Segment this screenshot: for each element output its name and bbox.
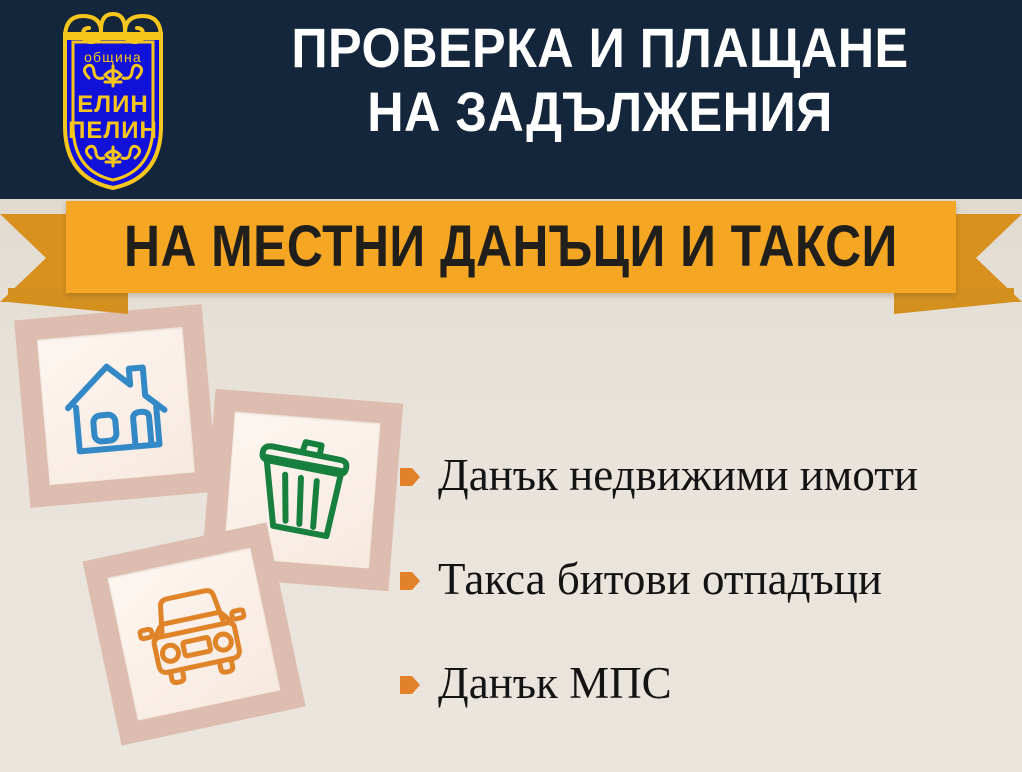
list-item-label: Данък недвижими имоти (438, 452, 918, 499)
stamp-scallop-dot (283, 651, 306, 674)
stamp-scallop-dot (314, 574, 334, 594)
stamp-scallop-dot (107, 708, 130, 731)
stamp-scallop-dot (181, 481, 202, 502)
stamp-scallop-dot (309, 389, 329, 409)
stamp-scallop-dot (272, 386, 292, 406)
stamp-scallop-dot (95, 652, 118, 675)
stamp-scallop-dot (118, 542, 141, 565)
stamp-scallop-dot (291, 387, 311, 407)
stamp-scallop-dot (347, 392, 367, 412)
coat-of-arms: община ЕЛИН ПЕЛИН (43, 8, 183, 192)
stamp-scallop-dot (103, 689, 126, 712)
vehicle-stamp (83, 523, 306, 746)
header-bar: община ЕЛИН ПЕЛИН (0, 0, 1022, 199)
stamp-scallop-dot (155, 535, 178, 558)
stamp-scallop-dot (175, 718, 198, 741)
stamp-scallop-dot (378, 554, 398, 574)
stamp-scallop-dot (279, 632, 302, 655)
stamp-scallop-dot (10, 357, 31, 378)
poster-root: община ЕЛИН ПЕЛИН (0, 0, 1022, 772)
stamp-scallop-dot (83, 596, 106, 619)
stamp-scallop-dot (13, 395, 34, 416)
stamp-scallop-dot (249, 703, 272, 726)
ribbon-label: НА МЕСТНИ ДАНЪЦИ И ТАКСИ (124, 218, 898, 276)
stamp-scallop-dot (198, 502, 218, 522)
stamp-scallop-dot (100, 546, 123, 569)
list-item[interactable]: Данък МПС (400, 632, 1012, 736)
stamp-scallop-dot (79, 578, 102, 601)
stamp-scallop-dot (18, 452, 39, 473)
svg-text:ЕЛИН: ЕЛИН (77, 91, 148, 118)
stamp-scallop-dot (253, 384, 273, 404)
svg-text:ПЕЛИН: ПЕЛИН (68, 117, 158, 144)
stamp-scallop-dot (87, 615, 110, 638)
stamp-scallop-dot (295, 572, 315, 592)
stamp-scallop-dot (234, 383, 254, 403)
subtitle-ribbon: НА МЕСТНИ ДАНЪЦИ И ТАКСИ (0, 198, 1022, 303)
stamp-face (107, 547, 280, 720)
stamp-scallop-dot (328, 390, 348, 410)
list-item[interactable]: Такса битови отпадъци (400, 528, 1012, 632)
stamp-scallop-dot (12, 376, 33, 397)
stamp-scallop-dot (192, 322, 213, 343)
stamp-scallop-dot (127, 301, 148, 322)
stamp-scallop-dot (287, 670, 310, 693)
stamp-scallop-dot (162, 483, 183, 504)
stamp-scallop-dot (275, 614, 298, 637)
stamp-scallop-dot (381, 516, 401, 536)
stamp-scallop-dot (67, 491, 88, 512)
stamp-scallop-dot (99, 671, 122, 694)
stamp-scallop-dot (380, 535, 400, 555)
tax-types-list: Данък недвижими имоти Такса битови отпад… (400, 424, 1012, 736)
stamp-scallop-dot (17, 433, 38, 454)
stamp-scallop-dot (194, 714, 217, 737)
car-icon (130, 576, 258, 693)
stamp-scallop-dot (15, 414, 36, 435)
stamp-scallop-dot (156, 722, 179, 745)
stamp-scallop-dot (20, 471, 41, 492)
real-estate-stamp (14, 304, 218, 508)
coat-of-arms-icon: община ЕЛИН ПЕЛИН (43, 8, 183, 192)
stamp-scallop-dot (7, 320, 28, 341)
arrow-bullet-icon (400, 570, 420, 592)
ribbon-banner: НА МЕСТНИ ДАНЪЦИ И ТАКСИ (66, 201, 956, 293)
stamp-scallop-dot (105, 488, 126, 509)
house-icon (58, 351, 174, 460)
stamp-scallop-dot (48, 493, 69, 514)
stamp-scallop-dot (174, 531, 197, 554)
stamp-scallop-dot (143, 485, 164, 506)
stamp-scallop-dot (111, 726, 134, 749)
stamp-scallop-dot (86, 490, 107, 511)
stamp-scallop-dot (193, 341, 214, 362)
stamp-scallop-dot (124, 486, 145, 507)
stamp-scallop-dot (377, 573, 397, 593)
stamp-scallop-dot (32, 310, 53, 331)
stamp-scallop-dot (22, 490, 43, 511)
stamp-scallop-dot (137, 538, 160, 561)
stamp-scallop-dot (91, 634, 114, 657)
stamp-scallop-dot (8, 338, 29, 359)
page-title: ПРОВЕРКА И ПЛАЩАНЕ НА ЗАДЪЛЖЕНИЯ (231, 16, 969, 144)
list-item-label: Данък МПС (438, 660, 672, 707)
stamp-scallop-dot (271, 595, 294, 618)
stamp-scallop-dot (212, 711, 235, 734)
stamp-scallop-dot (333, 575, 353, 595)
stamp-scallop-dot (268, 699, 291, 722)
stamp-scallop-dot (385, 395, 405, 415)
svg-text:община: община (84, 49, 142, 65)
stamp-scallop-dot (195, 360, 216, 381)
stamp-face (37, 327, 195, 485)
page-title-line-1: ПРОВЕРКА И ПЛАЩАНЕ (231, 16, 969, 80)
list-item-label: Такса битови отпадъци (438, 556, 882, 603)
stamp-scallop-dot (138, 726, 161, 749)
list-item[interactable]: Данък недвижими имоти (400, 424, 1012, 528)
stamp-scallop-dot (352, 577, 372, 597)
arrow-bullet-icon (400, 466, 420, 488)
stamp-scallop-dot (366, 393, 386, 413)
page-title-line-2: НА ЗАДЪЛЖЕНИЯ (231, 80, 969, 144)
stamp-scallop-dot (231, 707, 254, 730)
stamp-scallop-dot (51, 308, 72, 329)
arrow-bullet-icon (400, 674, 420, 696)
